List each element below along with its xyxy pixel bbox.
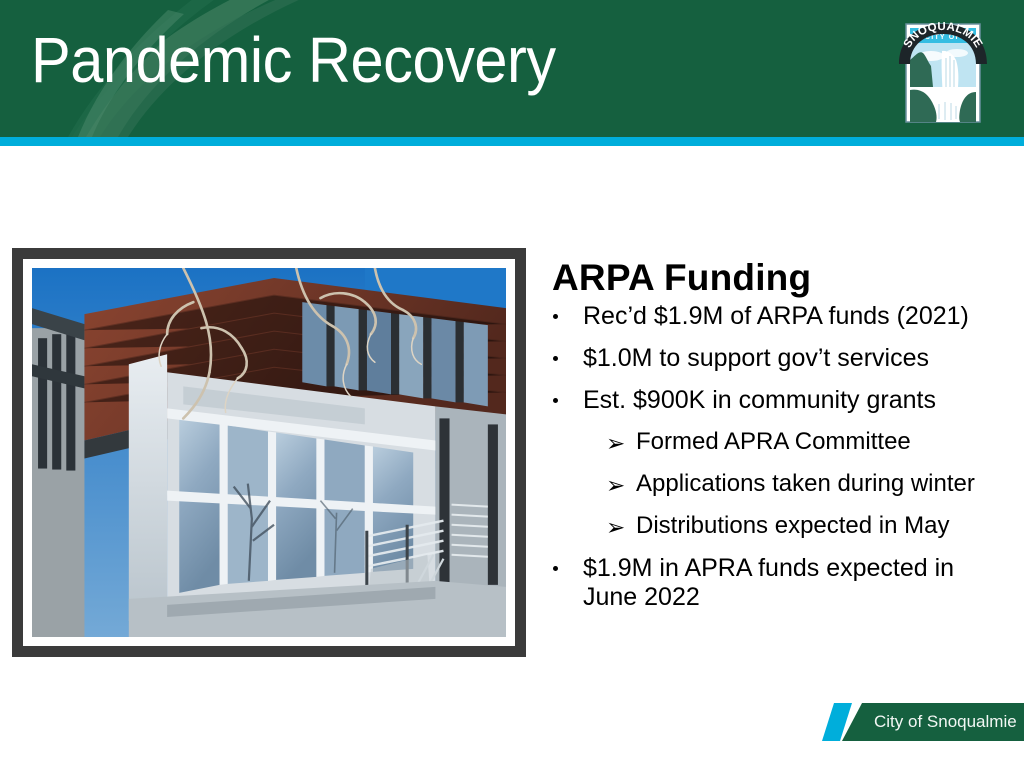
arrow-bullet-icon: ➢ [606,471,625,499]
list-item-label: $1.0M to support gov’t services [583,344,929,372]
sub-list-item-label: Distributions expected in May [636,512,949,539]
city-of-snoqualmie-logo-icon: CITY OF SNOQUALMIE [893,20,993,130]
arrow-bullet-icon: ➢ [606,429,625,457]
content-block: ARPA Funding Rec’d $1.9M of ARPA funds (… [549,256,1011,625]
bullet-dot-icon [553,398,558,403]
building-photo [32,268,506,637]
sub-list-item: ➢ Applications taken during winter [549,470,1011,498]
header-accent-line [0,137,1024,146]
sub-list-item: ➢ Distributions expected in May [549,512,1011,540]
list-item: Rec’d $1.9M of ARPA funds (2021) [549,302,1011,331]
bullet-dot-icon [553,314,558,319]
photo-frame [12,248,526,657]
list-item: $1.0M to support gov’t services [549,344,1011,373]
sub-list-item-label: Formed APRA Committee [636,428,911,455]
bullet-dot-icon [553,356,558,361]
list-item: $1.9M in APRA funds expected in June 202… [549,554,1011,612]
list-item-label: $1.9M in APRA funds expected in June 202… [583,554,954,611]
bullet-list: Rec’d $1.9M of ARPA funds (2021) $1.0M t… [549,302,1011,612]
footer-label: City of Snoqualmie [874,703,1017,741]
footer-banner: City of Snoqualmie [822,703,1024,741]
list-item-label: Rec’d $1.9M of ARPA funds (2021) [583,302,969,330]
arrow-bullet-icon: ➢ [606,513,625,541]
sub-list-item: ➢ Formed APRA Committee [549,428,1011,456]
sub-list-item-label: Applications taken during winter [636,470,975,497]
photo-mat [23,259,515,646]
bullet-dot-icon [553,566,558,571]
slide-header-band: Pandemic Recovery CITY OF [0,0,1024,137]
page-title: Pandemic Recovery [31,22,556,98]
content-heading: ARPA Funding [552,256,1011,300]
list-item-label: Est. $900K in community grants [583,386,936,414]
list-item: Est. $900K in community grants [549,386,1011,415]
